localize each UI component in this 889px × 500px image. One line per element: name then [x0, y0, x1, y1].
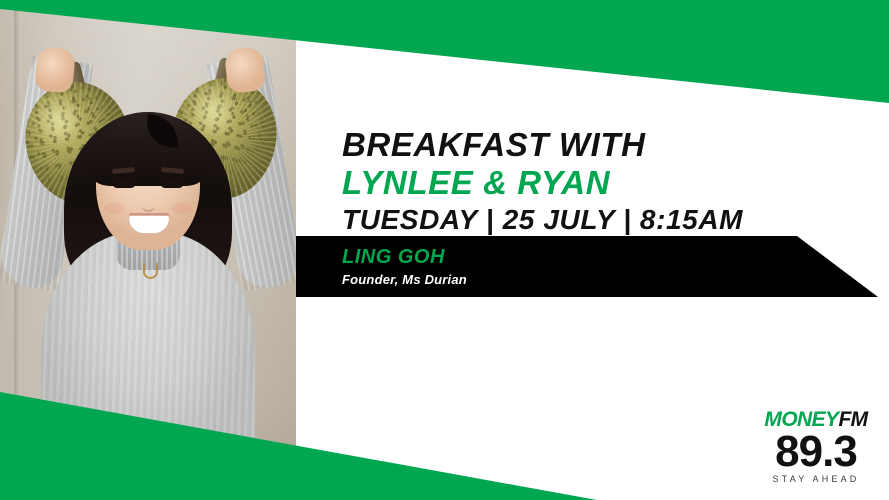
guest-info-bar: LING GOH Founder, Ms Durian — [296, 236, 889, 297]
necklace-pendant — [143, 262, 158, 279]
eye-right — [161, 180, 183, 188]
logo-frequency: 89.3 — [755, 431, 877, 473]
headline-datetime: TUESDAY | 25 JULY | 8:15AM — [342, 206, 862, 234]
eye-left — [113, 180, 135, 188]
headline-hosts: LYNLEE & RYAN — [342, 166, 862, 199]
moneyfm-logo: MONEYFM 89.3 STAY AHEAD — [755, 409, 877, 484]
guest-name: LING GOH — [342, 246, 445, 269]
cheek-left — [104, 203, 124, 214]
headline-block: BREAKFAST WITH LYNLEE & RYAN TUESDAY | 2… — [342, 128, 862, 234]
hand-right — [224, 46, 266, 94]
hand-left — [34, 46, 76, 94]
guest-role: Founder, Ms Durian — [342, 272, 467, 287]
headline-show-title: BREAKFAST WITH — [342, 128, 862, 161]
cheek-right — [172, 203, 192, 214]
nose — [142, 196, 155, 212]
logo-tagline: STAY AHEAD — [755, 474, 877, 484]
promo-poster: BREAKFAST WITH LYNLEE & RYAN TUESDAY | 2… — [0, 0, 889, 500]
